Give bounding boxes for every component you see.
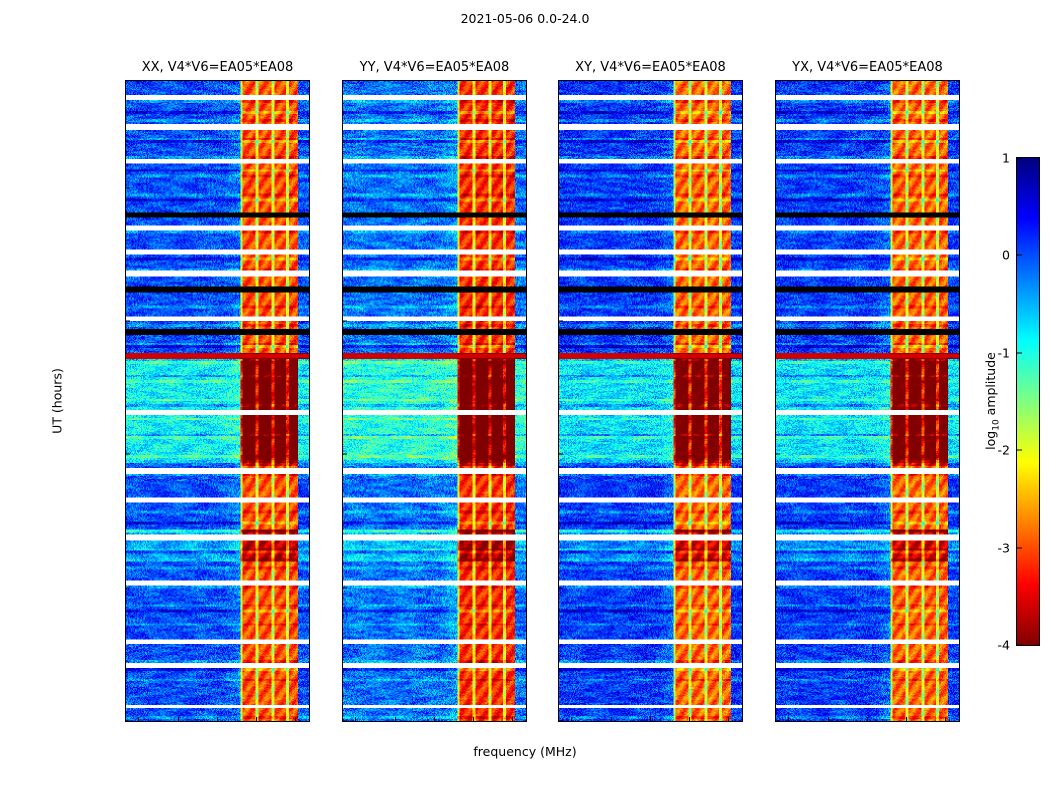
y-tick-15: 15: [342, 314, 343, 329]
panel-yx: YX, V4*V6=EA05*EA08 05101520320335350365…: [775, 80, 960, 722]
x-tick-380: 380: [501, 721, 525, 722]
colorbar-label-rest: amplitude: [983, 352, 998, 419]
colorbar[interactable]: 10-1-2-3-4: [1016, 157, 1040, 646]
y-tick-15: 15: [125, 314, 126, 329]
colorbar-tickmark: [1017, 255, 1022, 256]
plot-area-xx[interactable]: 05101520320335350365380: [125, 80, 310, 722]
panel-yy: YY, V4*V6=EA05*EA08 05101520320335350365…: [342, 80, 527, 722]
x-tick-365: 365: [462, 721, 486, 722]
x-tick-365: 365: [678, 721, 702, 722]
colorbar-tick-1: 1: [1002, 151, 1017, 166]
panel-xx: XX, V4*V6=EA05*EA08 05101520320335350365…: [125, 80, 310, 722]
x-tick-320: 320: [344, 721, 368, 722]
x-tick-335: 335: [383, 721, 407, 722]
colorbar-tickmark: [1017, 547, 1022, 548]
panel-title-yy: YY, V4*V6=EA05*EA08: [342, 60, 527, 80]
plot-area-xy[interactable]: 05101520320335350365380: [558, 80, 743, 722]
colorbar-tick-neg4: -4: [998, 638, 1017, 653]
x-tick-335: 335: [816, 721, 840, 722]
x-tick-380: 380: [284, 721, 308, 722]
y-tick-10: 10: [342, 447, 343, 462]
x-tick-380: 380: [934, 721, 958, 722]
colorbar-label-base: log: [983, 431, 998, 450]
panel-title-xx: XX, V4*V6=EA05*EA08: [125, 60, 310, 80]
y-tick-20: 20: [125, 180, 126, 195]
x-tick-350: 350: [423, 721, 447, 722]
y-tick-5: 5: [558, 580, 559, 595]
y-tick-5: 5: [342, 580, 343, 595]
figure-title: 2021-05-06 0.0-24.0: [0, 11, 1050, 26]
y-tick-15: 15: [558, 314, 559, 329]
x-tick-320: 320: [777, 721, 801, 722]
waterfall-image-yx: [776, 81, 959, 721]
y-tick-0: 0: [775, 714, 776, 723]
x-tick-320: 320: [560, 721, 584, 722]
colorbar-tick-neg3: -3: [998, 540, 1017, 555]
y-tick-0: 0: [342, 714, 343, 723]
y-axis-label: UT (hours): [50, 368, 65, 434]
waterfall-image-xy: [559, 81, 742, 721]
colorbar-tick-0: 0: [1002, 248, 1017, 263]
colorbar-gradient: [1017, 158, 1039, 645]
colorbar-tickmark: [1017, 450, 1022, 451]
x-tick-335: 335: [599, 721, 623, 722]
y-tick-0: 0: [125, 714, 126, 723]
x-axis-label: frequency (MHz): [0, 744, 1050, 759]
waterfall-image-xx: [126, 81, 309, 721]
x-tick-335: 335: [166, 721, 190, 722]
y-tick-20: 20: [775, 180, 776, 195]
colorbar-tickmark: [1017, 352, 1022, 353]
x-tick-350: 350: [856, 721, 880, 722]
plot-area-yx[interactable]: 05101520320335350365380: [775, 80, 960, 722]
y-tick-5: 5: [775, 580, 776, 595]
y-tick-5: 5: [125, 580, 126, 595]
waterfall-image-yy: [343, 81, 526, 721]
x-tick-365: 365: [895, 721, 919, 722]
x-tick-365: 365: [245, 721, 269, 722]
x-tick-320: 320: [127, 721, 151, 722]
y-tick-20: 20: [342, 180, 343, 195]
y-tick-20: 20: [558, 180, 559, 195]
x-tick-380: 380: [717, 721, 741, 722]
y-tick-10: 10: [125, 447, 126, 462]
y-tick-10: 10: [775, 447, 776, 462]
x-tick-350: 350: [206, 721, 230, 722]
plot-area-yy[interactable]: 05101520320335350365380: [342, 80, 527, 722]
y-tick-10: 10: [558, 447, 559, 462]
panel-xy: XY, V4*V6=EA05*EA08 05101520320335350365…: [558, 80, 743, 722]
y-tick-15: 15: [775, 314, 776, 329]
x-tick-350: 350: [639, 721, 663, 722]
panel-title-yx: YX, V4*V6=EA05*EA08: [775, 60, 960, 80]
colorbar-label-subscript: 10: [991, 419, 1001, 430]
panel-title-xy: XY, V4*V6=EA05*EA08: [558, 60, 743, 80]
y-tick-0: 0: [558, 714, 559, 723]
colorbar-label: log10 amplitude: [983, 352, 1002, 450]
